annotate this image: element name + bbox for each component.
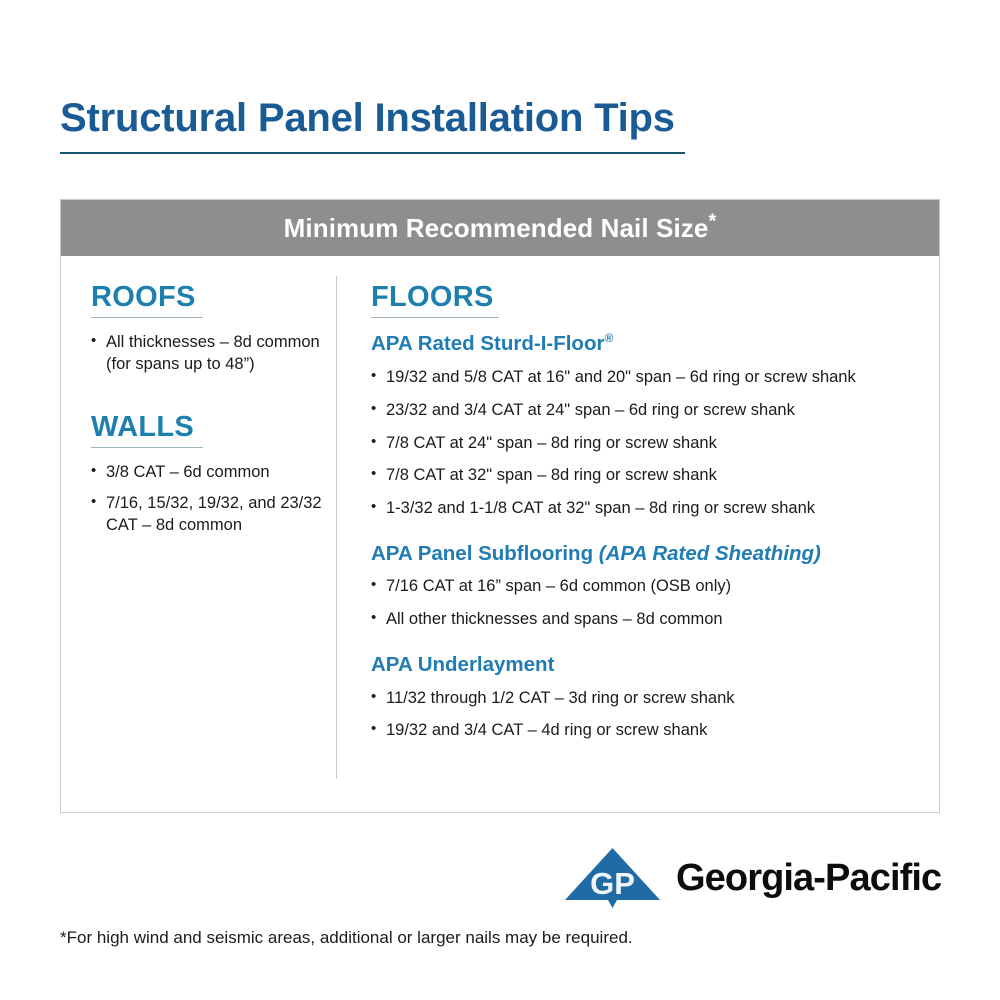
list-item: 3/8 CAT – 6d common — [91, 462, 328, 484]
list-item: 7/8 CAT at 32" span – 8d ring or screw s… — [371, 465, 923, 487]
section-walls: WALLS 3/8 CAT – 6d common 7/16, 15/32, 1… — [91, 412, 328, 537]
subheading-label: APA Underlayment — [371, 653, 554, 676]
card-header-title: Minimum Recommended Nail Size* — [284, 213, 717, 244]
registered-trademark-icon: ® — [604, 332, 613, 346]
list-item: 23/32 and 3/4 CAT at 24" span – 6d ring … — [371, 400, 923, 422]
bullet-list-panel-subflooring: 7/16 CAT at 16” span – 6d common (OSB on… — [371, 576, 923, 631]
subheading-underlayment: APA Underlayment — [371, 653, 923, 678]
section-underline-roofs — [91, 317, 203, 318]
title-divider — [60, 152, 685, 154]
list-item: 19/32 and 5/8 CAT at 16" and 20" span – … — [371, 367, 923, 389]
bullet-list-sturd-i-floor: 19/32 and 5/8 CAT at 16" and 20" span – … — [371, 367, 923, 520]
list-item: All thicknesses – 8d common (for spans u… — [91, 332, 328, 376]
card-header: Minimum Recommended Nail Size* — [61, 200, 939, 256]
section-heading-walls: WALLS — [91, 412, 328, 442]
subheading-label-italic: (APA Rated Sheathing) — [599, 542, 821, 565]
bullet-list-walls: 3/8 CAT – 6d common 7/16, 15/32, 19/32, … — [91, 462, 328, 536]
subheading-sturd-i-floor: APA Rated Sturd-I-Floor® — [371, 332, 923, 357]
card-header-asterisk: * — [708, 210, 716, 232]
brand-wordmark: Georgia-Pacific — [676, 857, 941, 900]
subheading-panel-subflooring: APA Panel Subflooring (APA Rated Sheathi… — [371, 542, 923, 567]
list-item: 1-3/32 and 1-1/8 CAT at 32" span – 8d ri… — [371, 498, 923, 520]
subheading-label: APA Rated Sturd-I-Floor — [371, 332, 604, 355]
list-item: 7/8 CAT at 24" span – 8d ring or screw s… — [371, 433, 923, 455]
card-header-label: Minimum Recommended Nail Size — [284, 213, 709, 243]
right-column: FLOORS APA Rated Sturd-I-Floor® 19/32 an… — [336, 282, 939, 753]
list-item: All other thicknesses and spans – 8d com… — [371, 609, 923, 631]
nail-size-card: Minimum Recommended Nail Size* ROOFS All… — [60, 199, 940, 813]
bullet-list-roofs: All thicknesses – 8d common (for spans u… — [91, 332, 328, 376]
column-divider — [336, 276, 337, 779]
bullet-list-underlayment: 11/32 through 1/2 CAT – 3d ring or screw… — [371, 688, 923, 743]
section-underline-walls — [91, 447, 203, 448]
left-column: ROOFS All thicknesses – 8d common (for s… — [61, 282, 336, 753]
section-roofs: ROOFS All thicknesses – 8d common (for s… — [91, 282, 328, 376]
list-item: 7/16 CAT at 16” span – 6d common (OSB on… — [371, 576, 923, 598]
subheading-label: APA Panel Subflooring — [371, 542, 599, 565]
group-underlayment: APA Underlayment 11/32 through 1/2 CAT –… — [371, 653, 923, 742]
gp-triangle-icon: GP — [565, 848, 660, 908]
page-root: Structural Panel Installation Tips Minim… — [0, 0, 1000, 1000]
title-block: Structural Panel Installation Tips — [60, 96, 940, 154]
section-heading-roofs: ROOFS — [91, 282, 328, 312]
page-title: Structural Panel Installation Tips — [60, 96, 940, 140]
footnote: *For high wind and seismic areas, additi… — [60, 928, 633, 948]
brand-logo: GP Georgia-Pacific — [565, 848, 941, 908]
svg-text:GP: GP — [590, 866, 635, 901]
group-sturd-i-floor: APA Rated Sturd-I-Floor® 19/32 and 5/8 C… — [371, 332, 923, 519]
group-panel-subflooring: APA Panel Subflooring (APA Rated Sheathi… — [371, 542, 923, 631]
card-body: ROOFS All thicknesses – 8d common (for s… — [61, 256, 939, 753]
list-item: 11/32 through 1/2 CAT – 3d ring or screw… — [371, 688, 923, 710]
section-heading-floors: FLOORS — [371, 282, 923, 312]
list-item: 19/32 and 3/4 CAT – 4d ring or screw sha… — [371, 720, 923, 742]
section-underline-floors — [371, 317, 499, 318]
list-item: 7/16, 15/32, 19/32, and 23/32 CAT – 8d c… — [91, 493, 328, 537]
